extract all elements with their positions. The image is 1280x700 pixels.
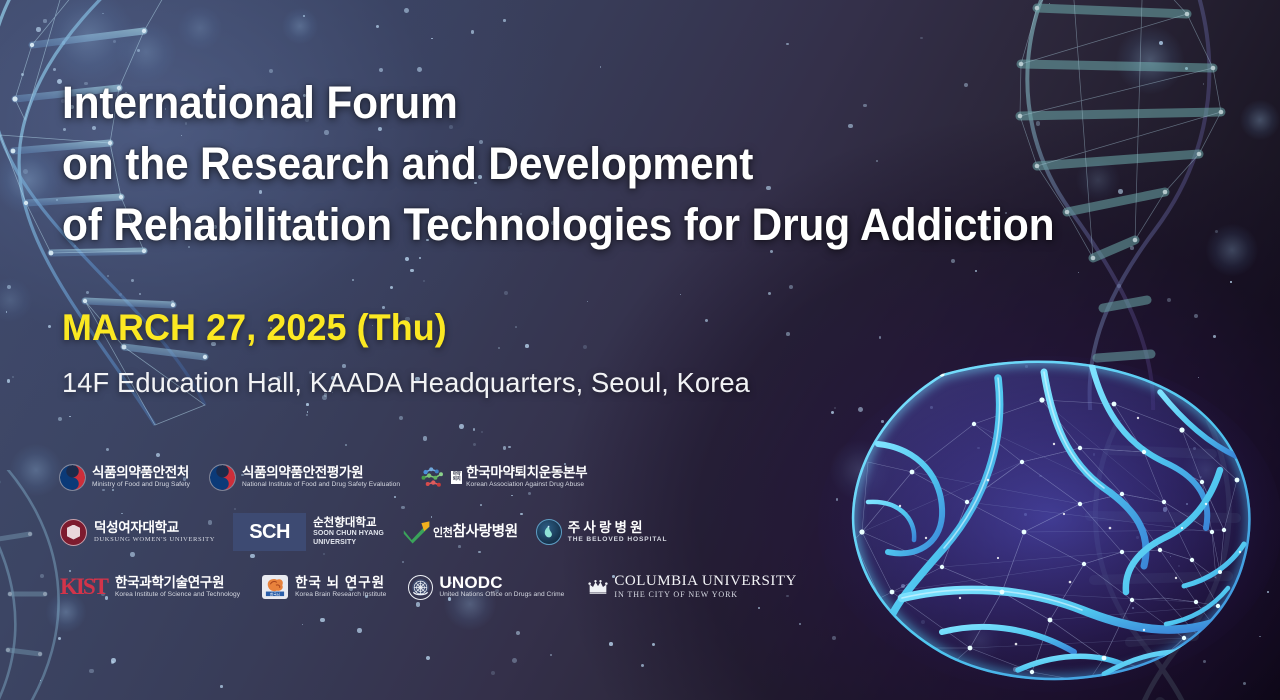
duksung-crest-icon xyxy=(60,519,87,546)
logo-sch: SCH 순천향대학교 SOON CHUN HYANG UNIVERSITY xyxy=(233,512,384,552)
event-poster: International Forum on the Research and … xyxy=(0,0,1280,700)
logo-row-2: 덕성여자대학교 DUKSUNG WOMEN'S UNIVERSITY SCH 순… xyxy=(60,507,760,557)
logo-name: COLUMBIA UNIVERSITY xyxy=(614,573,796,590)
logo-name: UNODC xyxy=(439,574,564,591)
logo-chamsarang: 인천 참사랑병원 xyxy=(402,512,518,552)
logo-name-en: Korea Brain Research Institute xyxy=(295,591,386,600)
taegeuk-icon xyxy=(60,465,85,490)
logo-name-en: Korea Institute of Science and Technolog… xyxy=(115,591,240,600)
logo-subtitle: IN THE CITY OF NEW YORK xyxy=(614,589,796,601)
molecule-icon xyxy=(420,465,448,489)
logo-name-en: Ministry of Food and Drug Safety xyxy=(92,481,190,490)
logo-name-ko: 한국 뇌 연구원 xyxy=(295,575,386,591)
logo-kbri: 한국뇌 한국 뇌 연구원 Korea Brain Research Instit… xyxy=(262,567,386,607)
logo-name-en-2: UNIVERSITY xyxy=(313,539,384,548)
kaada-badge-icon: 마약 퇴치 xyxy=(451,471,462,484)
wireframe-brain-icon xyxy=(792,352,1280,700)
title-line-1: International Forum xyxy=(62,72,1158,133)
crown-icon xyxy=(588,579,608,595)
logo-name-en: DUKSUNG WOMEN'S UNIVERSITY xyxy=(94,536,215,545)
logo-name-ko: 식품의약품안전평가원 xyxy=(242,465,400,481)
logo-row-1: 식품의약품안전처 Ministry of Food and Drug Safet… xyxy=(60,452,760,502)
check-icon xyxy=(402,520,432,544)
taegeuk-icon xyxy=(210,465,235,490)
logo-row-3: KIST 한국과학기술연구원 Korea Institute of Scienc… xyxy=(60,562,760,612)
logo-name-en: National Institute of Food and Drug Safe… xyxy=(242,481,400,490)
logo-name-en-1: SOON CHUN HYANG xyxy=(313,530,384,539)
brain-crest-icon: 한국뇌 xyxy=(262,575,288,599)
logo-name-ko: 주 사 랑 병 원 xyxy=(568,520,668,536)
logo-kaada: 마약 퇴치 한국마약퇴치운동본부 Korean Association Agai… xyxy=(420,457,587,497)
title-line-3: of Rehabilitation Technologies for Drug … xyxy=(62,194,1158,255)
logo-columbia: COLUMBIA UNIVERSITY IN THE CITY OF NEW Y… xyxy=(588,567,796,607)
logo-name-ko: 참사랑병원 xyxy=(453,524,518,541)
sponsor-logos: 식품의약품안전처 Ministry of Food and Drug Safet… xyxy=(60,452,760,612)
logo-name-prefix: 인천 xyxy=(433,524,453,540)
logo-duksung: 덕성여자대학교 DUKSUNG WOMEN'S UNIVERSITY xyxy=(60,512,215,552)
sch-wordmark: SCH xyxy=(233,513,306,551)
page-title: International Forum on the Research and … xyxy=(62,72,1158,256)
title-line-2: on the Research and Development xyxy=(62,133,1158,194)
kist-wordmark: KIST xyxy=(60,574,107,600)
logo-name-en: THE BELOVED HOSPITAL xyxy=(568,536,668,545)
logo-beloved: 주 사 랑 병 원 THE BELOVED HOSPITAL xyxy=(536,512,668,552)
logo-unodc: UNODC United Nations Office on Drugs and… xyxy=(408,567,564,607)
poster-text-block: International Forum on the Research and … xyxy=(62,72,1222,400)
logo-name-en: United Nations Office on Drugs and Crime xyxy=(439,591,564,600)
logo-nifds: 식품의약품안전평가원 National Institute of Food an… xyxy=(210,457,400,497)
logo-name-ko: 식품의약품안전처 xyxy=(92,465,190,481)
logo-name-ko: 한국과학기술연구원 xyxy=(115,575,240,591)
logo-name-ko: 순천향대학교 xyxy=(313,517,384,530)
logo-name-ko: 한국마약퇴치운동본부 xyxy=(466,465,587,481)
svg-text:한국뇌: 한국뇌 xyxy=(270,591,280,596)
logo-mfds: 식품의약품안전처 Ministry of Food and Drug Safet… xyxy=(60,457,190,497)
un-emblem-icon xyxy=(408,575,433,600)
logo-name-en: Korean Association Against Drug Abuse xyxy=(466,481,587,490)
event-date: MARCH 27, 2025 (Thu) xyxy=(62,308,1187,349)
beloved-crest-icon xyxy=(536,519,562,545)
event-venue: 14F Education Hall, KAADA Headquarters, … xyxy=(62,366,1193,400)
sch-abbr: SCH xyxy=(249,521,290,544)
logo-kist: KIST 한국과학기술연구원 Korea Institute of Scienc… xyxy=(60,567,240,607)
logo-name-ko: 덕성여자대학교 xyxy=(94,520,215,536)
